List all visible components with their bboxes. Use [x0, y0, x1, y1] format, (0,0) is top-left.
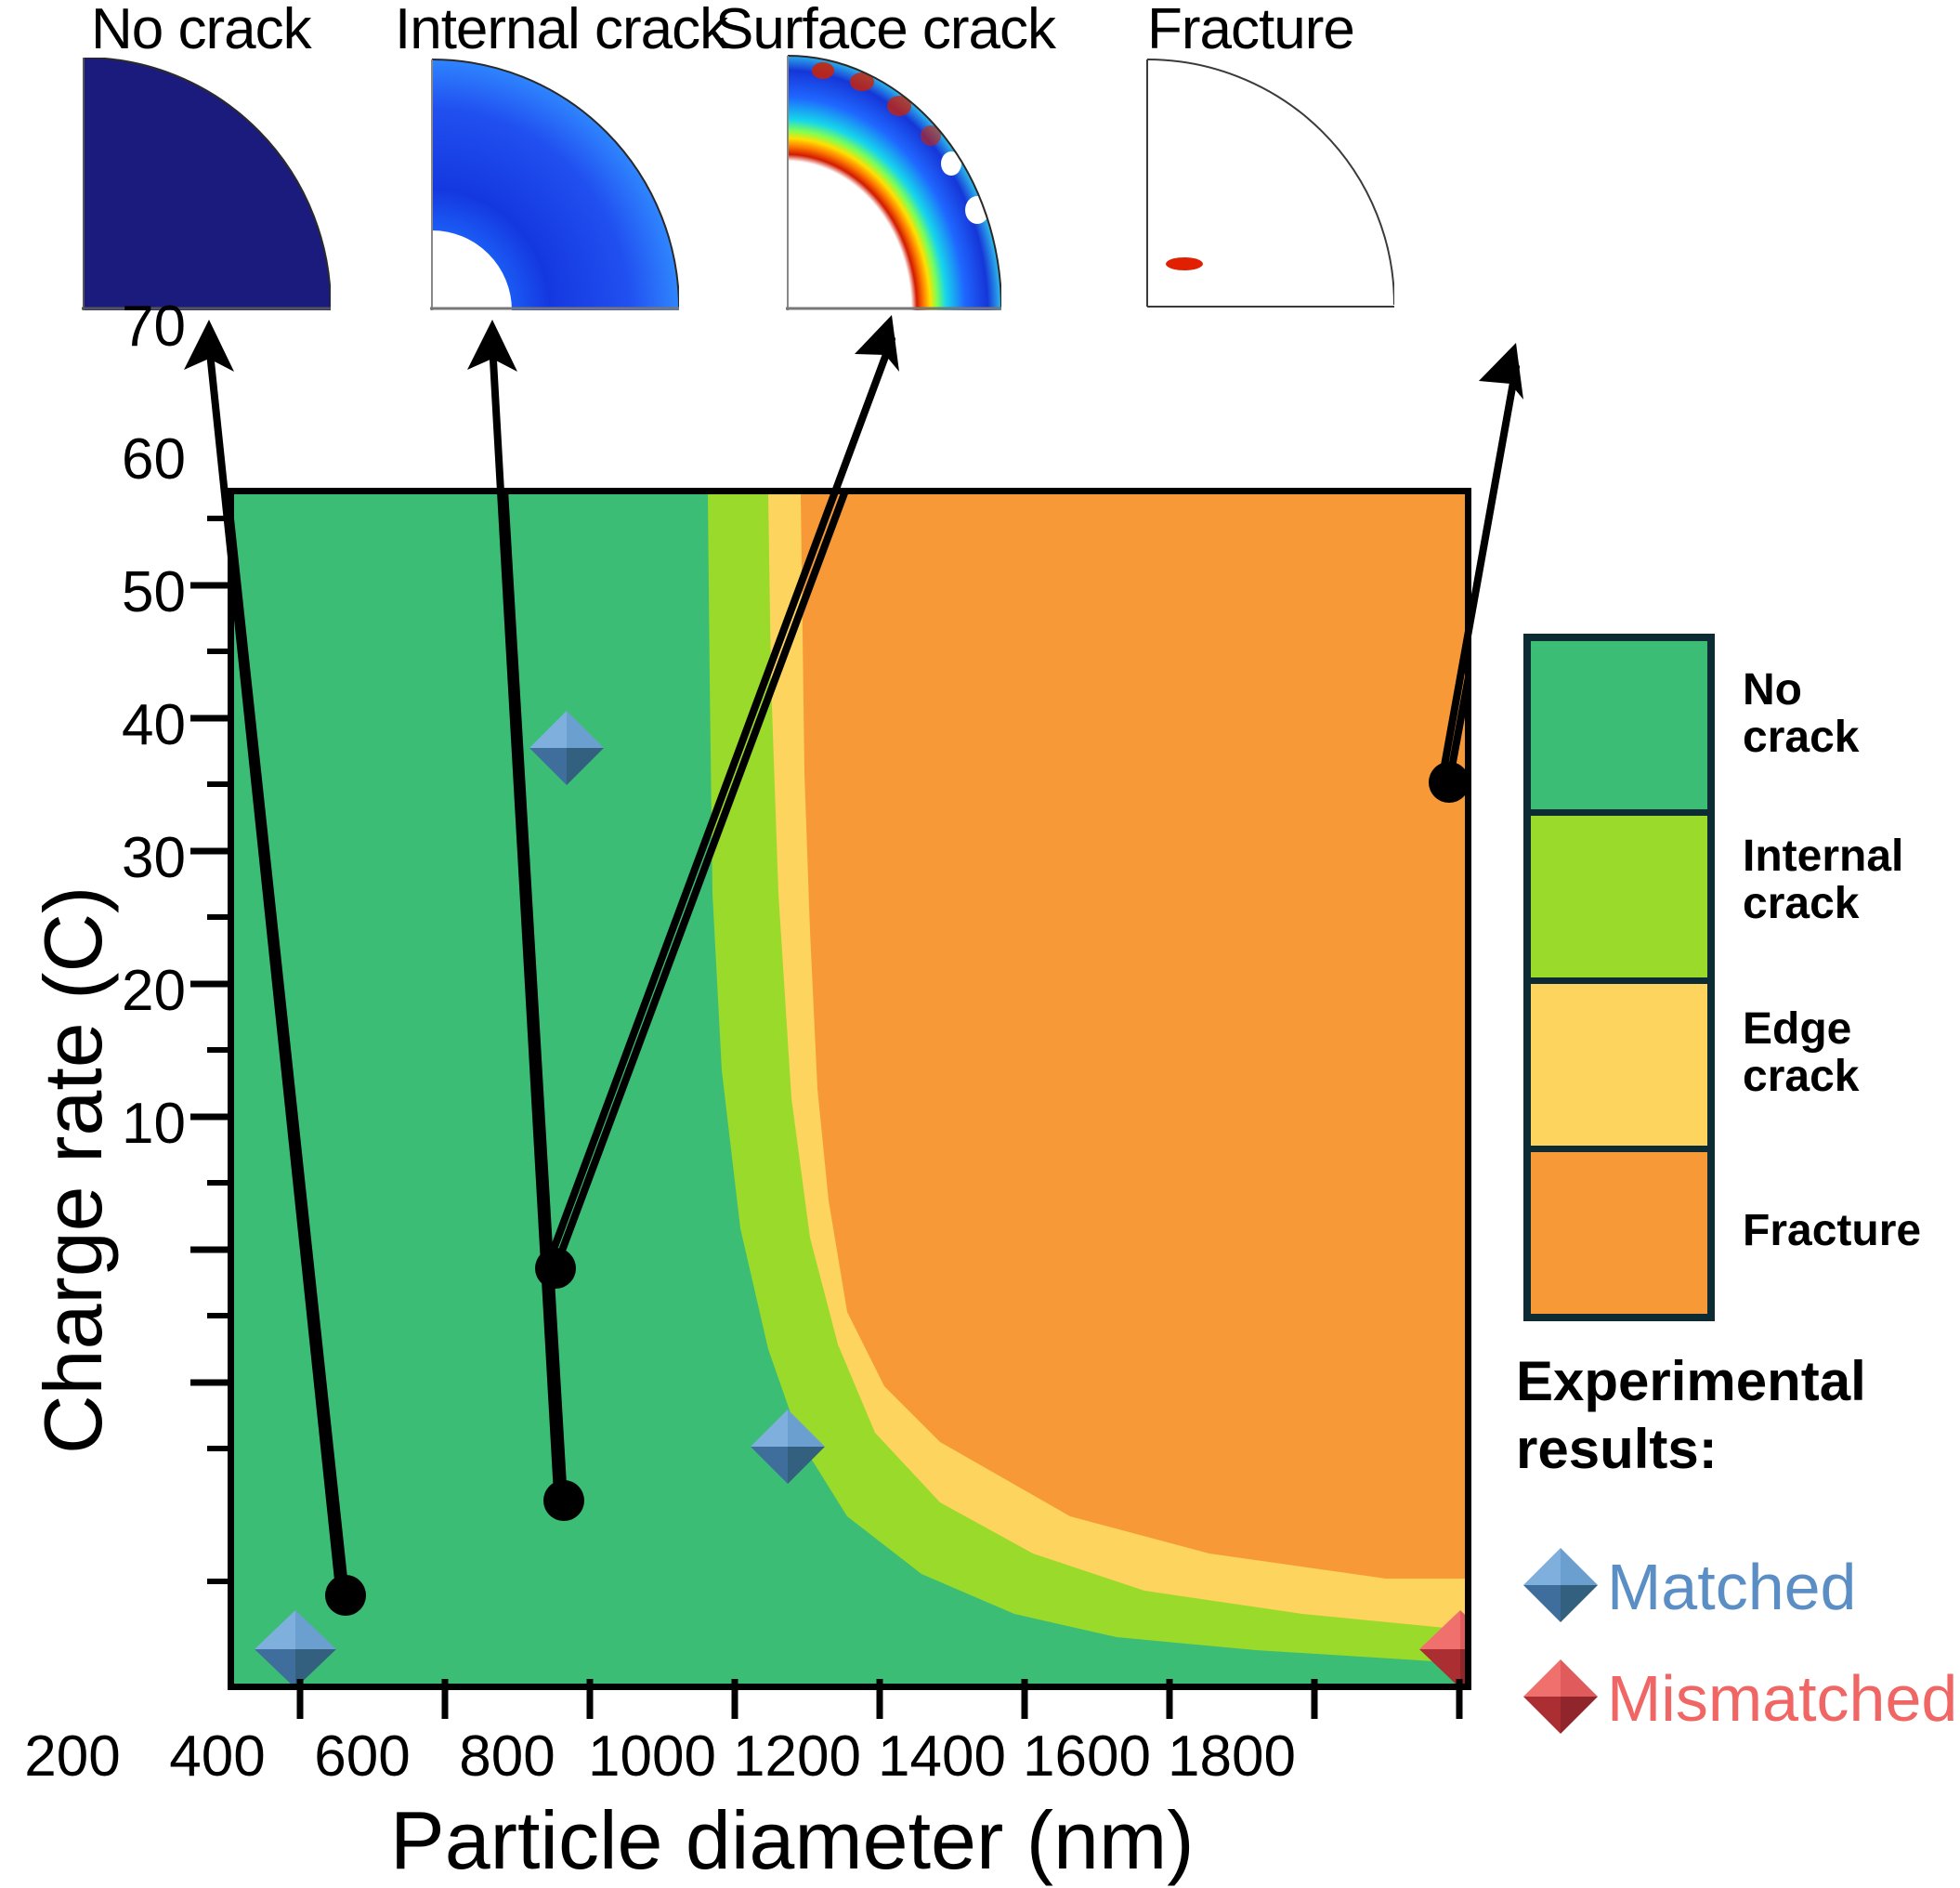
ytick-40: 40: [37, 692, 186, 758]
inset-title-internal-crack: Internal crack: [395, 0, 727, 62]
legend-swatch-internal-crack: [1531, 809, 1707, 977]
y-axis-title: Charge rate (C): [26, 886, 121, 1454]
xtick-1800: 1800: [1139, 1724, 1325, 1790]
marker-swatch-matched: [1523, 1548, 1598, 1622]
ytick-60: 60: [37, 426, 186, 492]
phase-diagram-regions: [234, 494, 1465, 1684]
ytick-30: 30: [37, 825, 186, 891]
legend-swatch-edge-crack: [1531, 977, 1707, 1146]
inset-image-surface-crack: [786, 54, 1001, 310]
inset-title-fracture: Fracture: [1147, 0, 1354, 62]
inset-image-no-crack: [82, 58, 331, 310]
legend-swatch-fracture: [1531, 1146, 1707, 1314]
experimental-label-matched: Matched: [1607, 1550, 1856, 1624]
legend-label-internal-crack: Internal crack: [1743, 833, 1903, 928]
figure-root: No crack Internal crack Surface crack Fr…: [0, 0, 1960, 1881]
legend-colorbar: [1523, 634, 1715, 1321]
legend-label-edge-crack: Edge crack: [1743, 1006, 1859, 1101]
x-axis-title: Particle diameter (nm): [390, 1793, 1195, 1888]
marker-swatch-mismatched: [1523, 1659, 1598, 1734]
ytick-50: 50: [37, 559, 186, 625]
legend-label-no-crack: No crack: [1743, 667, 1859, 762]
inset-image-internal-crack: [430, 58, 679, 310]
ytick-70: 70: [37, 294, 186, 360]
legend-swatch-no-crack: [1531, 641, 1707, 809]
experimental-label-mismatched: Mismatched: [1607, 1661, 1957, 1736]
legend-label-fracture: Fracture: [1743, 1208, 1921, 1255]
x-axis-ticks: [228, 1677, 1465, 1724]
phase-diagram-plot: [228, 488, 1471, 1690]
inset-title-surface-crack: Surface crack: [715, 0, 1055, 62]
experimental-results-title: Experimental results:: [1516, 1347, 1866, 1483]
inset-title-no-crack: No crack: [91, 0, 311, 62]
y-axis-ticks: [181, 488, 232, 1682]
inset-image-fracture: [1145, 58, 1394, 310]
